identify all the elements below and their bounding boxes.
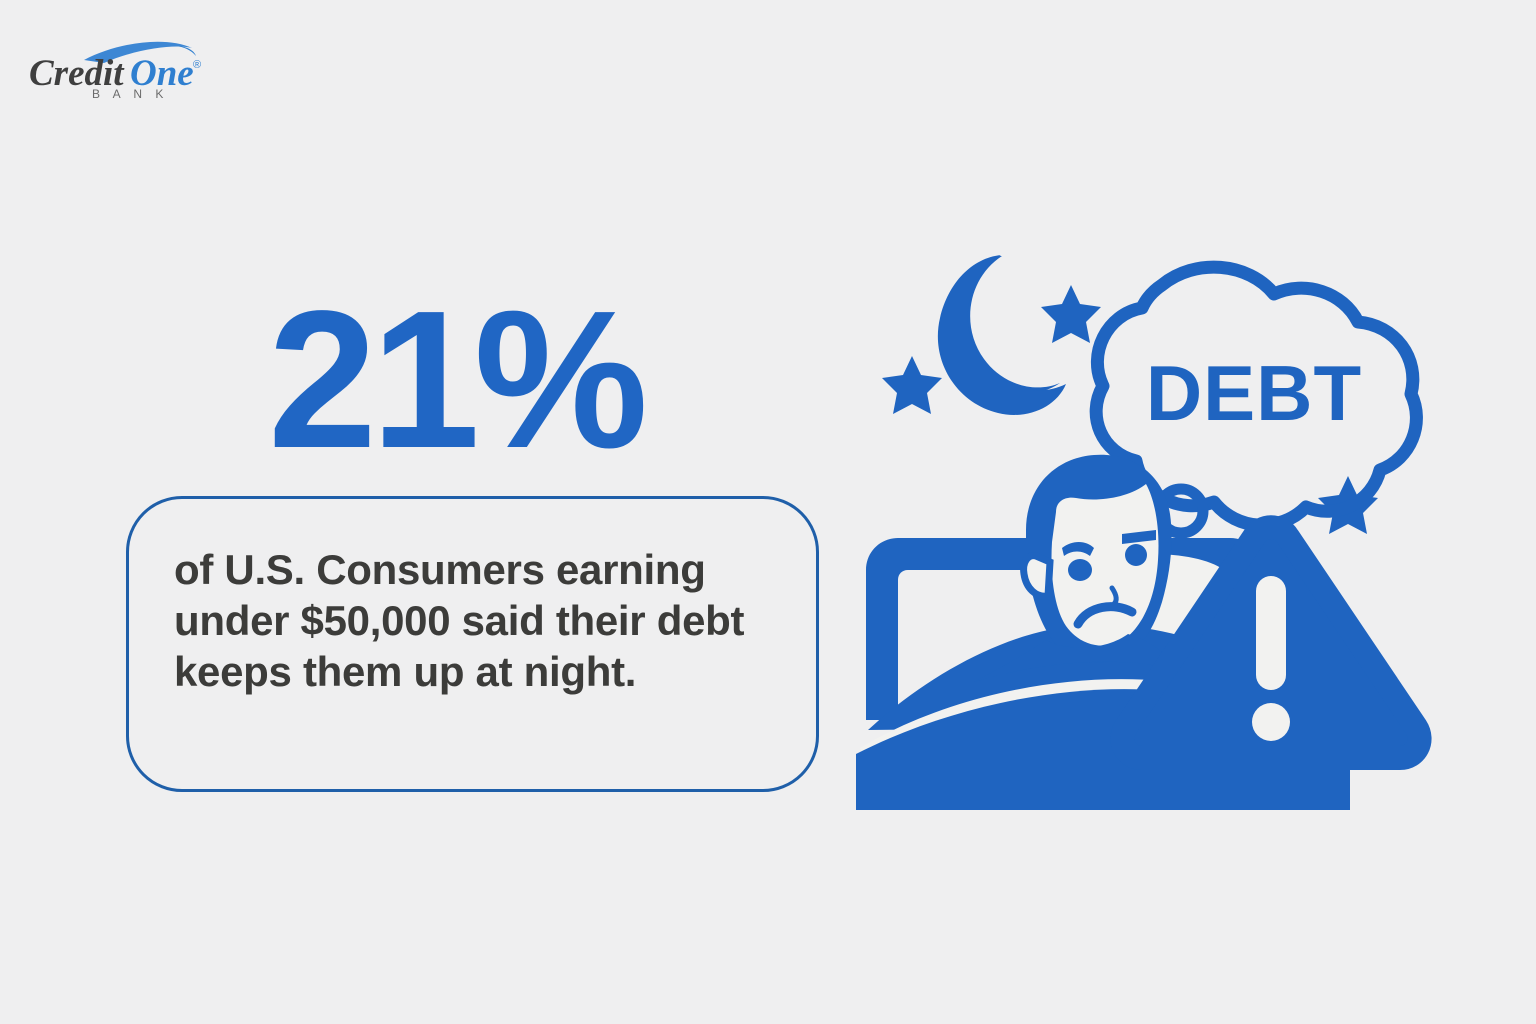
person-eye-right-icon	[1125, 544, 1147, 566]
logo-registered-mark: ®	[193, 59, 201, 71]
crescent-moon-body-icon	[938, 255, 1066, 415]
warning-exclamation-dot-icon	[1252, 703, 1290, 741]
warning-exclamation-bar-icon	[1256, 576, 1286, 690]
logo-subtitle-bank: B A N K	[92, 87, 168, 100]
statement-text: of U.S. Consumers earning under $50,000 …	[174, 544, 774, 697]
person-ear-icon	[1024, 556, 1050, 597]
infographic-canvas: Credit One ® B A N K 21% of U.S. Consume…	[0, 0, 1536, 1024]
person-eye-left-icon	[1068, 559, 1092, 581]
star-icon	[882, 356, 942, 414]
credit-one-bank-logo: Credit One ® B A N K	[26, 38, 226, 100]
stat-percentage: 21%	[268, 282, 642, 478]
star-icon	[1041, 285, 1101, 343]
thought-bubble-label: DEBT	[1146, 349, 1362, 437]
debt-insomnia-illustration: DEBT	[850, 230, 1450, 830]
